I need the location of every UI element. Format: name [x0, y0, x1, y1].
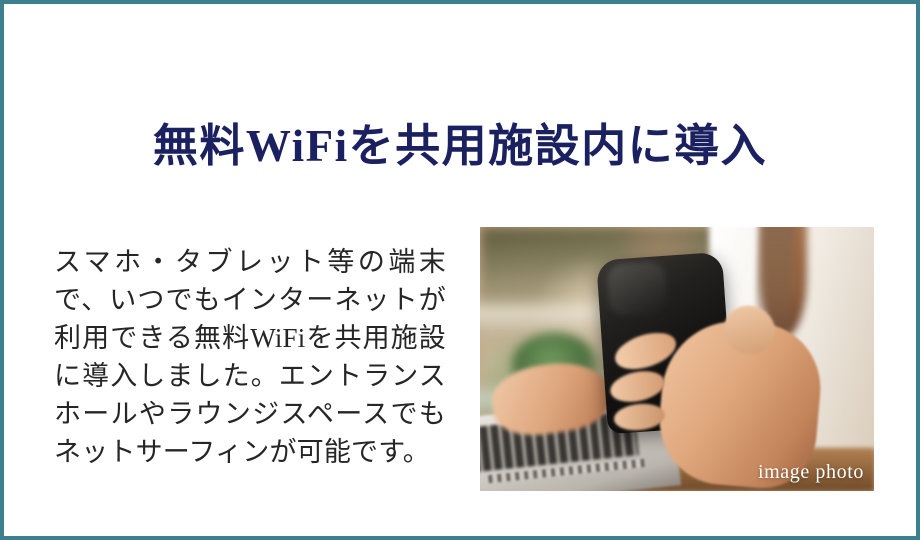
body-description: スマホ・タブレット等の端末で、いつでもインターネットが利用できる無料WiFiを共…: [54, 243, 446, 471]
image-photo-caption: image photo: [758, 461, 864, 484]
photo-scene: [480, 227, 874, 491]
feature-photo: image photo: [480, 227, 874, 491]
smartphone-screen-glare: [607, 261, 668, 317]
page-title: 無料WiFiを共用施設内に導入: [4, 122, 916, 172]
promo-panel: 無料WiFiを共用施設内に導入 スマホ・タブレット等の端末で、いつでもインターネ…: [0, 0, 920, 540]
